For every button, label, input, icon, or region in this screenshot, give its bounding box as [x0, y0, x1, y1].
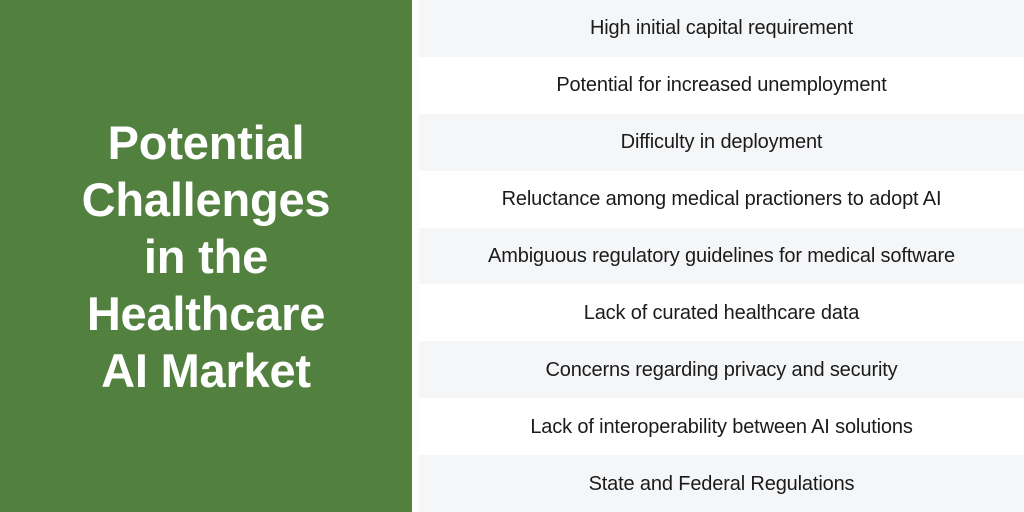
list-item: Concerns regarding privacy and security — [419, 341, 1024, 398]
list-item-label: Concerns regarding privacy and security — [545, 357, 897, 383]
list-item: Reluctance among medical practioners to … — [419, 171, 1024, 228]
list-item-label: Difficulty in deployment — [621, 129, 823, 155]
title-panel: Potential Challenges in the Healthcare A… — [0, 0, 412, 512]
list-item: Ambiguous regulatory guidelines for medi… — [419, 228, 1024, 285]
list-item-label: State and Federal Regulations — [589, 471, 855, 497]
list-item-label: Reluctance among medical practioners to … — [502, 186, 942, 212]
list-item-label: Potential for increased unemployment — [556, 72, 886, 98]
list-item-label: High initial capital requirement — [590, 15, 853, 41]
infographic-root: Potential Challenges in the Healthcare A… — [0, 0, 1024, 512]
list-item-label: Lack of interoperability between AI solu… — [530, 414, 912, 440]
list-item-label: Lack of curated healthcare data — [584, 300, 860, 326]
list-item: High initial capital requirement — [419, 0, 1024, 57]
list-item: Lack of interoperability between AI solu… — [419, 398, 1024, 455]
page-title: Potential Challenges in the Healthcare A… — [82, 114, 331, 399]
panel-divider — [412, 0, 419, 512]
list-item: Potential for increased unemployment — [419, 57, 1024, 114]
list-item: Lack of curated healthcare data — [419, 284, 1024, 341]
list-item-label: Ambiguous regulatory guidelines for medi… — [488, 243, 955, 269]
list-item: Difficulty in deployment — [419, 114, 1024, 171]
challenge-list: High initial capital requirement Potenti… — [419, 0, 1024, 512]
list-item: State and Federal Regulations — [419, 455, 1024, 512]
